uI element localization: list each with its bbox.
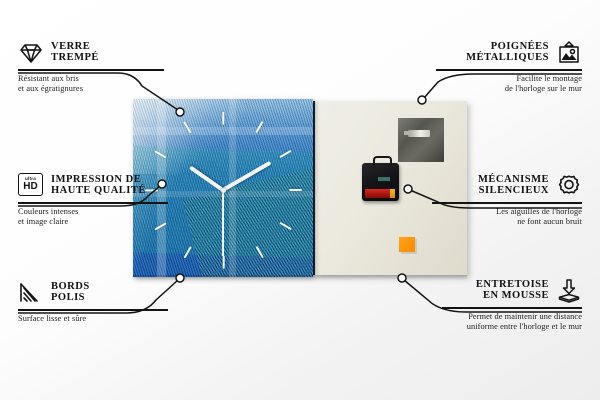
callout-header: POIGNÉES MÉTALLIQUES [436, 40, 582, 66]
callout-subtitle: Facilite le montage de l'horloge sur le … [436, 74, 582, 95]
foam-spacer-icon [556, 278, 582, 304]
callout-title: POIGNÉES MÉTALLIQUES [466, 42, 549, 63]
callout-header: MÉCANISME SILENCIEUX [432, 173, 582, 199]
callout-header: ultra HD IMPRESSION DE HAUTE QUALITÉ [18, 173, 168, 199]
callout-rule [442, 307, 582, 309]
callout-subtitle: Résistant aux bris et aux égratignures [18, 74, 164, 95]
ultra-hd-icon: ultra HD [18, 173, 44, 199]
callout-rule [436, 69, 582, 71]
callout-rule [18, 202, 168, 204]
callout-subtitle: Couleurs intenses et image claire [18, 207, 168, 228]
callout-poignees-metalliques[interactable]: POIGNÉES MÉTALLIQUES Facilite le montage… [436, 40, 582, 94]
gear-icon [556, 173, 582, 199]
callout-title: IMPRESSION DE HAUTE QUALITÉ [51, 175, 146, 196]
callout-title: BORDS POLIS [51, 282, 90, 303]
connector-dot-bords-polis [176, 274, 184, 282]
callout-header: BORDS POLIS [18, 280, 168, 306]
connector-dot-entretoise [398, 274, 406, 282]
callout-title: ENTRETOISE EN MOUSSE [476, 280, 549, 301]
callout-bords-polis[interactable]: BORDS POLIS Surface lisse et sûre [18, 280, 168, 324]
callout-subtitle: Surface lisse et sûre [18, 314, 168, 324]
callout-header: ENTRETOISE EN MOUSSE [442, 278, 582, 304]
callout-entretoise-mousse[interactable]: ENTRETOISE EN MOUSSE Permet de maintenir… [442, 278, 582, 332]
picture-hanger-icon [556, 40, 582, 66]
polished-edge-icon [18, 280, 44, 306]
callout-verre-trempe[interactable]: VERRE TREMPÉ Résistant aux bris et aux é… [18, 40, 164, 94]
infographic-canvas: VERRE TREMPÉ Résistant aux bris et aux é… [0, 0, 600, 400]
callout-impression-hd[interactable]: ultra HD IMPRESSION DE HAUTE QUALITÉ Cou… [18, 173, 168, 227]
callout-rule [18, 69, 164, 71]
callout-header: VERRE TREMPÉ [18, 40, 164, 66]
callout-mecanisme-silencieux[interactable]: MÉCANISME SILENCIEUX Les aiguilles de l'… [432, 173, 582, 227]
callout-subtitle: Permet de maintenir une distance uniform… [442, 312, 582, 333]
diamond-icon [18, 40, 44, 66]
callout-title: VERRE TREMPÉ [51, 42, 99, 63]
callout-title: MÉCANISME SILENCIEUX [478, 175, 549, 196]
callout-rule [432, 202, 582, 204]
callout-rule [18, 309, 168, 311]
connector-dot-poignees [418, 96, 426, 104]
callout-subtitle: Les aiguilles de l'horloge ne font aucun… [432, 207, 582, 228]
connector-dot-verre-trempe [176, 108, 184, 116]
connector-dot-mecanisme [404, 185, 412, 193]
